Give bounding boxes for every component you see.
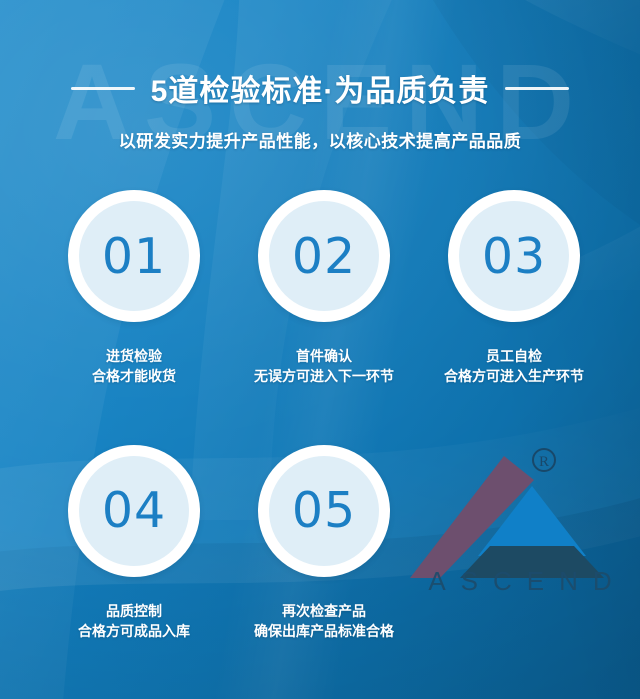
step-label-primary: 品质控制 (78, 601, 190, 621)
step-circle-04: 04 (68, 445, 200, 577)
step-label-primary: 员工自检 (444, 346, 584, 366)
step-labels-05: 再次检查产品 确保出库产品标准合格 (254, 601, 394, 642)
step-label-primary: 再次检查产品 (254, 601, 394, 621)
step-number-01: 01 (102, 232, 166, 281)
step-item-02: 02 首件确认 无误方可进入下一环节 (234, 190, 414, 387)
step-labels-03: 员工自检 合格方可进入生产环节 (444, 346, 584, 387)
step-label-secondary: 合格才能收货 (92, 366, 176, 386)
step-number-05: 05 (292, 486, 356, 535)
step-item-05: 05 再次检查产品 确保出库产品标准合格 (234, 445, 414, 642)
page-subtitle: 以研发实力提升产品性能，以核心技术提高产品品质 (0, 127, 640, 152)
banner-header: 5道检验标准·为品质负责 以研发实力提升产品性能，以核心技术提高产品品质 (0, 66, 640, 152)
step-label-secondary: 确保出库产品标准合格 (254, 621, 394, 641)
step-number-02: 02 (292, 232, 356, 281)
title-rule-left (71, 87, 135, 90)
step-labels-04: 品质控制 合格方可成品入库 (78, 601, 190, 642)
quality-inspection-banner: ASCEND 5道检验标准·为品质负责 以研发实力提升产品性能，以核心技术提高产… (0, 0, 640, 699)
step-number-04: 04 (102, 486, 166, 535)
step-item-04: 04 品质控制 合格方可成品入库 (44, 445, 224, 642)
page-title: 5道检验标准·为品质负责 (151, 66, 490, 110)
step-circle-02: 02 (258, 190, 390, 322)
step-label-secondary: 无误方可进入下一环节 (254, 366, 394, 386)
step-label-secondary: 合格方可进入生产环节 (444, 366, 584, 386)
step-number-03: 03 (482, 232, 546, 281)
title-rule-right (505, 87, 569, 90)
ascend-logo: R ASCEND (408, 438, 632, 610)
step-labels-01: 进货检验 合格才能收货 (92, 346, 176, 387)
step-circle-01: 01 (68, 190, 200, 322)
step-item-01: 01 进货检验 合格才能收货 (44, 190, 224, 387)
registered-trademark-letter: R (539, 454, 549, 470)
step-circle-05: 05 (258, 445, 390, 577)
step-circle-03: 03 (448, 190, 580, 322)
step-label-primary: 进货检验 (92, 346, 176, 366)
steps-row-1: 01 进货检验 合格才能收货 02 首件确认 无误方可进入下一环节 03 (0, 190, 640, 387)
title-row: 5道检验标准·为品质负责 (0, 66, 640, 110)
ascend-wordmark: ASCEND (410, 566, 630, 597)
step-label-primary: 首件确认 (254, 346, 394, 366)
step-labels-02: 首件确认 无误方可进入下一环节 (254, 346, 394, 387)
step-label-secondary: 合格方可成品入库 (78, 621, 190, 641)
ascend-logo-mark: R (408, 438, 632, 578)
step-item-03: 03 员工自检 合格方可进入生产环节 (424, 190, 604, 387)
